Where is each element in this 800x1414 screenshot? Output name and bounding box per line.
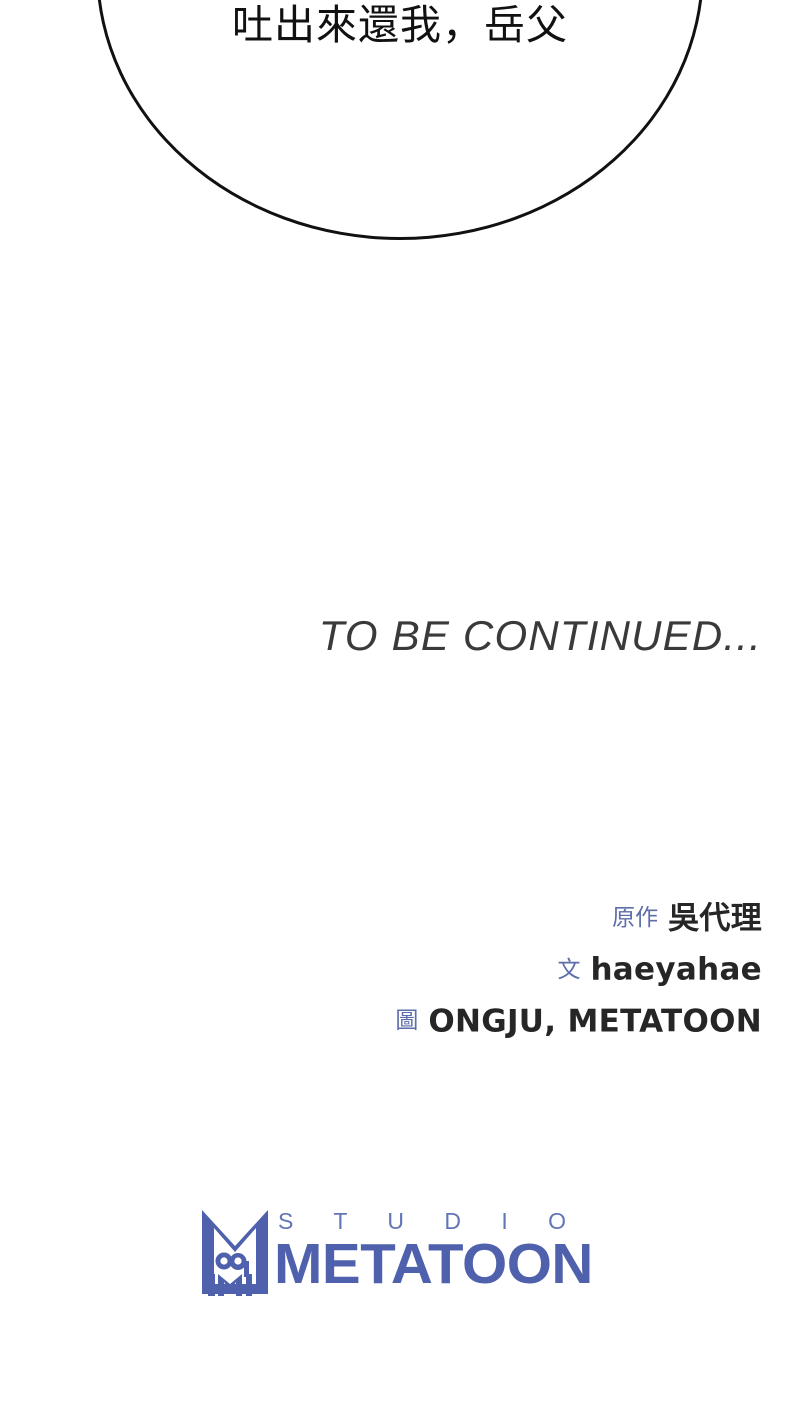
- metatoon-cat-mark-icon: [200, 1206, 274, 1296]
- credit-name-value: ONGJU, METATOON: [428, 1003, 762, 1039]
- credit-role-label: 文: [557, 957, 580, 983]
- credit-row: 原作吳代理: [0, 893, 762, 944]
- studio-metatoon-logo: S T U D I O METATOON: [200, 1206, 604, 1300]
- speech-bubble-text: 吐出來還我，岳父: [0, 0, 800, 50]
- comic-page: 吐出來還我，岳父 TO BE CONTINUED... 原作吳代理 文haeya…: [0, 0, 800, 1414]
- credit-role-label: 圖: [395, 1008, 418, 1034]
- credits-block: 原作吳代理 文haeyahae 圖ONGJU, METATOON: [0, 893, 762, 1047]
- credit-name-value: 吳代理: [668, 900, 762, 936]
- credit-name-value: haeyahae: [590, 952, 762, 988]
- credit-role-label: 原作: [612, 905, 658, 931]
- logo-metatoon-word: METATOON: [274, 1233, 593, 1296]
- logo-studio-word: S T U D I O: [278, 1208, 583, 1235]
- credit-row: 圖ONGJU, METATOON: [0, 996, 762, 1047]
- to-be-continued-label: TO BE CONTINUED...: [0, 612, 762, 660]
- credit-row: 文haeyahae: [0, 944, 762, 995]
